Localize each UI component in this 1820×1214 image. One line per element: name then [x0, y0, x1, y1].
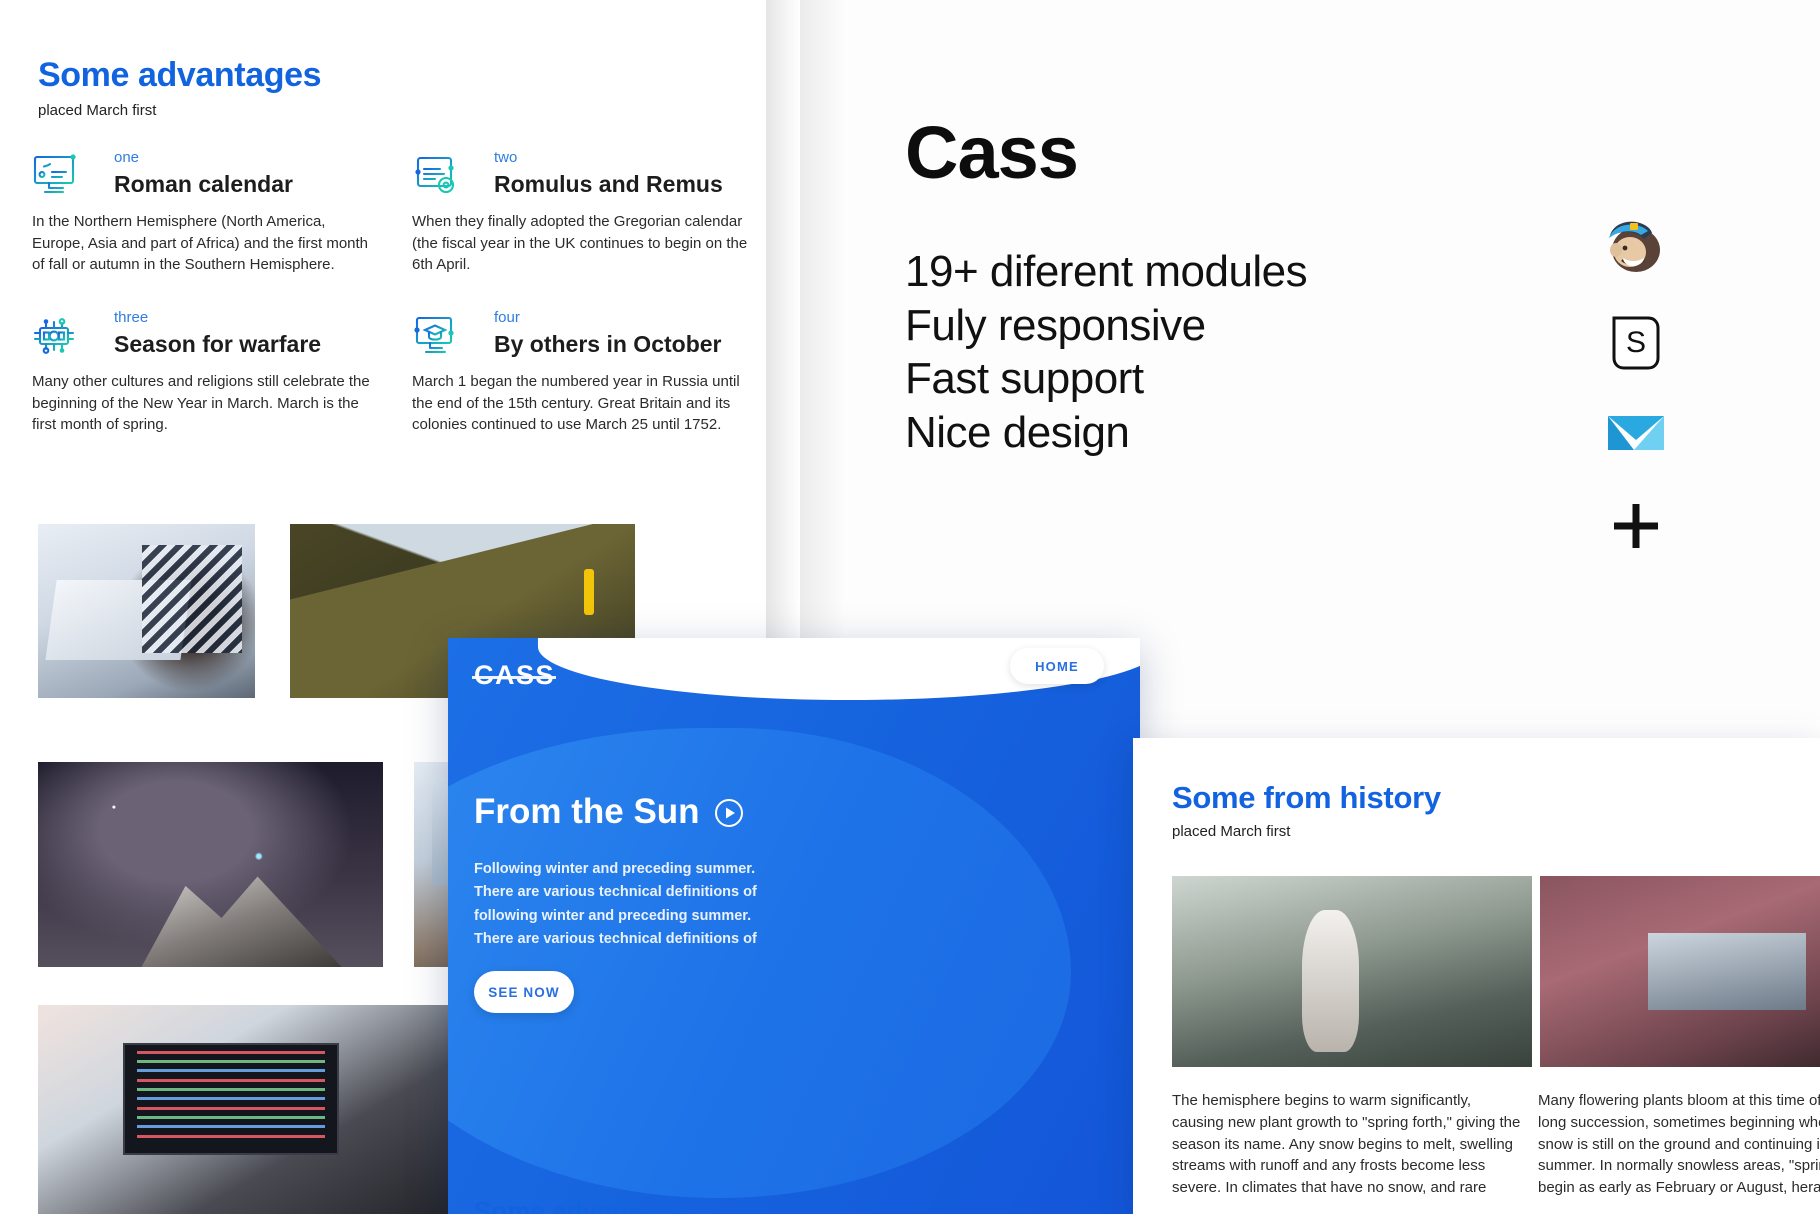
feature-card-two: two Romulus and Remus When they finally … — [412, 150, 757, 275]
page-title: Some advantages — [38, 56, 321, 95]
cpu-chip-icon — [32, 314, 88, 364]
feature-body: In the Northern Hemisphere (North Americ… — [32, 211, 377, 275]
gallery-image-night-mountain — [38, 762, 383, 967]
feature-number: three — [114, 310, 377, 327]
feature-number: two — [494, 150, 757, 167]
feature-number: four — [494, 310, 757, 327]
hero-feature-list: 19+ diferent modules Fuly responsive Fas… — [905, 245, 1307, 460]
feature-number: one — [114, 150, 377, 167]
feature-card-three: three Season for warfare Many other cult… — [32, 310, 377, 435]
feature-card-one: one Roman calendar In the Northern Hemis… — [32, 150, 377, 275]
hero-bullet: Fast support — [905, 352, 1307, 406]
blue-card-body: Following winter and preceding summer. T… — [474, 858, 774, 952]
monitor-music-icon — [32, 154, 88, 204]
hero-bullet: Nice design — [905, 406, 1307, 460]
browser-settings-icon — [412, 154, 468, 204]
gallery-image-code-laptop — [38, 1005, 508, 1214]
mailchimp-icon — [1600, 208, 1672, 280]
feature-heading: Romulus and Remus — [494, 170, 757, 199]
feature-card-four: four By others in October March 1 began … — [412, 310, 757, 435]
plus-icon — [1600, 490, 1672, 562]
brand-icon-stack: S — [1600, 208, 1672, 584]
history-image-waterfall-selfie — [1172, 876, 1532, 1067]
feature-body: Many other cultures and religions still … — [32, 371, 377, 435]
play-circle-icon[interactable] — [714, 797, 744, 827]
feature-body: March 1 began the numbered year in Russi… — [412, 371, 757, 435]
svg-text:S: S — [1626, 326, 1646, 359]
blue-card-footer-heading: Some advantages — [474, 1196, 695, 1214]
monitor-graduation-icon — [412, 314, 468, 364]
history-card: Some from history placed March first The… — [1133, 738, 1820, 1214]
page-subtitle: placed March first — [38, 102, 156, 119]
history-image-cafe-laptop — [1540, 876, 1820, 1067]
home-nav-button[interactable]: HOME — [1010, 648, 1104, 684]
history-subtitle: placed March first — [1172, 823, 1290, 840]
gallery-image-laptop-typing — [38, 524, 255, 698]
feature-heading: Roman calendar — [114, 170, 377, 199]
feature-heading: Season for warfare — [114, 330, 377, 359]
see-now-button[interactable]: SEE NOW — [474, 971, 574, 1013]
hero-title: Cass — [905, 110, 1078, 195]
cass-logo[interactable]: CASS — [474, 660, 555, 691]
campaign-monitor-icon — [1600, 396, 1672, 468]
stripo-s-icon: S — [1600, 302, 1672, 374]
blue-card-heading-text: From the Sun — [474, 792, 700, 832]
blue-card-heading: From the Sun — [474, 792, 744, 832]
hero-bullet: 19+ diferent modules — [905, 245, 1307, 299]
feature-body: When they finally adopted the Gregorian … — [412, 211, 757, 275]
history-title: Some from history — [1172, 780, 1441, 816]
screenshot-stage: Some advantages placed March first one R — [0, 0, 1820, 1214]
history-body-column: Many flowering plants bloom at this time… — [1538, 1090, 1820, 1199]
history-body-column: The hemisphere begins to warm significan… — [1172, 1090, 1522, 1199]
feature-heading: By others in October — [494, 330, 757, 359]
hero-bullet: Fuly responsive — [905, 299, 1307, 353]
